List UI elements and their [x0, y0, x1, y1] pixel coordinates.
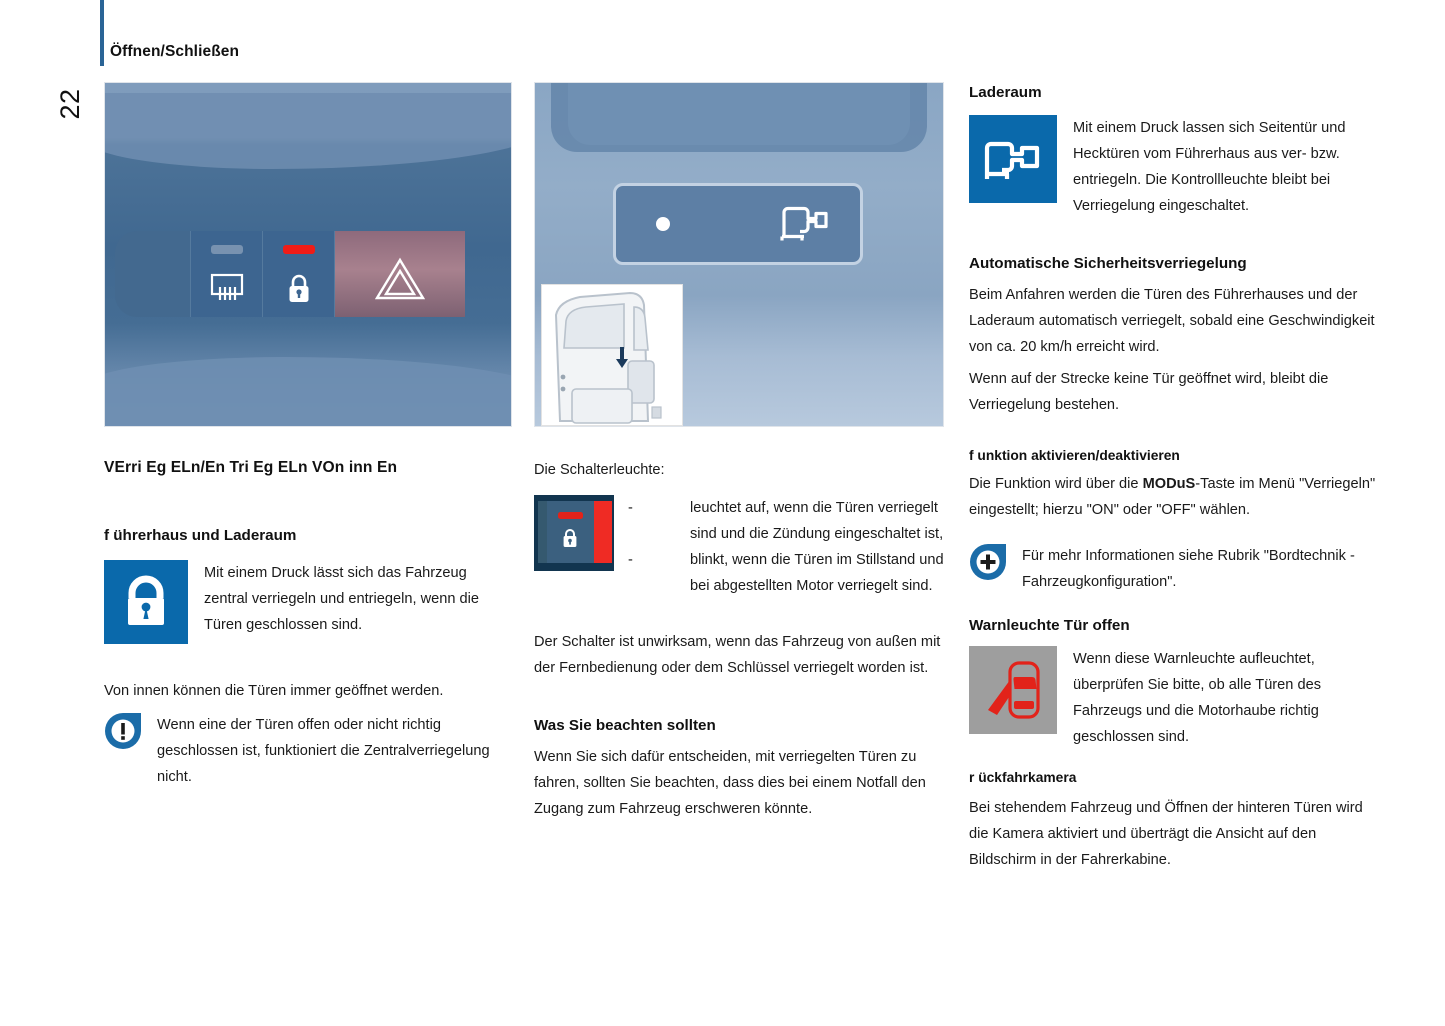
padlock-pictogram-icon [104, 560, 188, 644]
funktion-text: Die Funktion wird über die MODuS-Taste i… [969, 471, 1381, 523]
auto-paragraph-1: Beim Anfahren werden die Türen des Führe… [969, 282, 1381, 360]
column-two: Die Schalterleuchte: [534, 82, 944, 822]
exclamation-drop-icon [104, 712, 142, 750]
lock-note: Mit einem Druck lässt sich das Fahrzeug … [104, 560, 512, 644]
rear-defroster-switch [191, 231, 263, 317]
laderaum-note-text: Mit einem Druck lassen sich Seitentür un… [1057, 115, 1381, 219]
column-one: VErri Eg ELn/En Tri Eg ELn VOn inn En f … [104, 82, 512, 790]
heading-laderaum: Laderaum [969, 84, 1381, 101]
warning-triangle-icon [375, 257, 425, 306]
cargo-van-pictogram-icon [969, 115, 1057, 203]
warning-note-text: Wenn eine der Türen offen oder nicht ric… [142, 712, 512, 790]
list-item-text: leuchtet auf, wenn die Türen verriegelt … [690, 500, 943, 542]
cargo-lock-switch-panel [613, 183, 863, 265]
warnleuchte-note-text: Wenn diese Warnleuchte aufleuchtet, über… [1057, 646, 1381, 750]
laderaum-note: Mit einem Druck lassen sich Seitentür un… [969, 115, 1381, 219]
info-note-text: Für mehr Informationen siehe Rubrik "Bor… [1007, 543, 1381, 595]
warning-note: Wenn eine der Türen offen oder nicht ric… [104, 712, 512, 790]
manual-page: Öffnen/Schließen 22 [0, 0, 1445, 1026]
dashboard-upper-curve [104, 93, 512, 168]
dashboard-switch-panel-photo [104, 82, 512, 427]
heading-warnleuchte-tuer-offen: Warnleuchte Tür offen [969, 617, 1381, 634]
section-heading-fuehrerhaus: f ührerhaus und Laderaum [104, 527, 512, 544]
switchlight-intro: Die Schalterleuchte: [534, 457, 944, 483]
col2-paragraph: Der Schalter ist unwirksam, wenn das Fah… [534, 629, 944, 681]
cargo-area-lock-switch-photo [534, 82, 944, 427]
list-item: - leuchtet auf, wenn die Türen verriegel… [628, 495, 944, 547]
cab-door-diagram-inset [541, 284, 683, 426]
door-open-warning-icon [969, 646, 1057, 734]
column-three: Laderaum Mit einem Druck lassen sich Sei… [969, 84, 1381, 873]
info-note: Für mehr Informationen siehe Rubrik "Bor… [969, 543, 1381, 595]
blank-switch [115, 231, 191, 317]
page-header-title: Öffnen/Schließen [110, 43, 239, 61]
main-title: VErri Eg ELn/En Tri Eg ELn VOn inn En [104, 459, 512, 477]
switchlight-block: - leuchtet auf, wenn die Türen verriegel… [534, 495, 944, 599]
section-text-beachten: Wenn Sie sich dafür entscheiden, mit ver… [534, 744, 944, 822]
col1-paragraph: Von innen können die Türen immer geöffne… [104, 678, 512, 704]
switch-indicator-dot [656, 217, 670, 231]
cargo-van-lock-icon [780, 201, 838, 248]
heading-rueckfahrkamera: r ückfahrkamera [969, 770, 1381, 785]
switch-light-thumbnail [534, 495, 614, 571]
plus-drop-icon [969, 543, 1007, 581]
list-dash: - [628, 495, 633, 521]
header-accent-bar [100, 0, 104, 66]
page-number: 22 [44, 78, 96, 130]
switchlight-bullets: - leuchtet auf, wenn die Türen verriegel… [628, 495, 944, 599]
switch-row [115, 231, 512, 317]
list-dash: - [628, 547, 633, 573]
lock-note-text: Mit einem Druck lässt sich das Fahrzeug … [188, 560, 512, 638]
modus-button-label: MODuS [1143, 476, 1196, 492]
switch-led-grey [211, 245, 243, 254]
heading-funktion-aktivieren: f unktion aktivieren/deaktivieren [969, 448, 1381, 463]
auto-paragraph-2: Wenn auf der Strecke keine Tür geöffnet … [969, 366, 1381, 418]
dashboard-lower-curve [104, 357, 512, 426]
central-locking-switch [263, 231, 335, 317]
heading-auto-sicherheitsverriegelung: Automatische Sicherheitsverriegelung [969, 255, 1381, 272]
rueckfahrkamera-text: Bei stehendem Fahrzeug und Öffnen der hi… [969, 795, 1381, 873]
hazard-warning-switch [335, 231, 465, 317]
section-heading-beachten: Was Sie beachten sollten [534, 717, 944, 734]
list-item-text: blinkt, wenn die Türen im Stillstand und… [690, 552, 944, 594]
cargo-trim-inner [568, 82, 911, 145]
list-item: - blinkt, wenn die Türen im Stillstand u… [628, 547, 944, 599]
switch-led-red [283, 245, 315, 254]
rear-defroster-icon [210, 273, 244, 308]
padlock-icon [286, 273, 312, 310]
funktion-text-part1: Die Funktion wird über die [969, 476, 1143, 492]
warnleuchte-note: Wenn diese Warnleuchte aufleuchtet, über… [969, 646, 1381, 750]
